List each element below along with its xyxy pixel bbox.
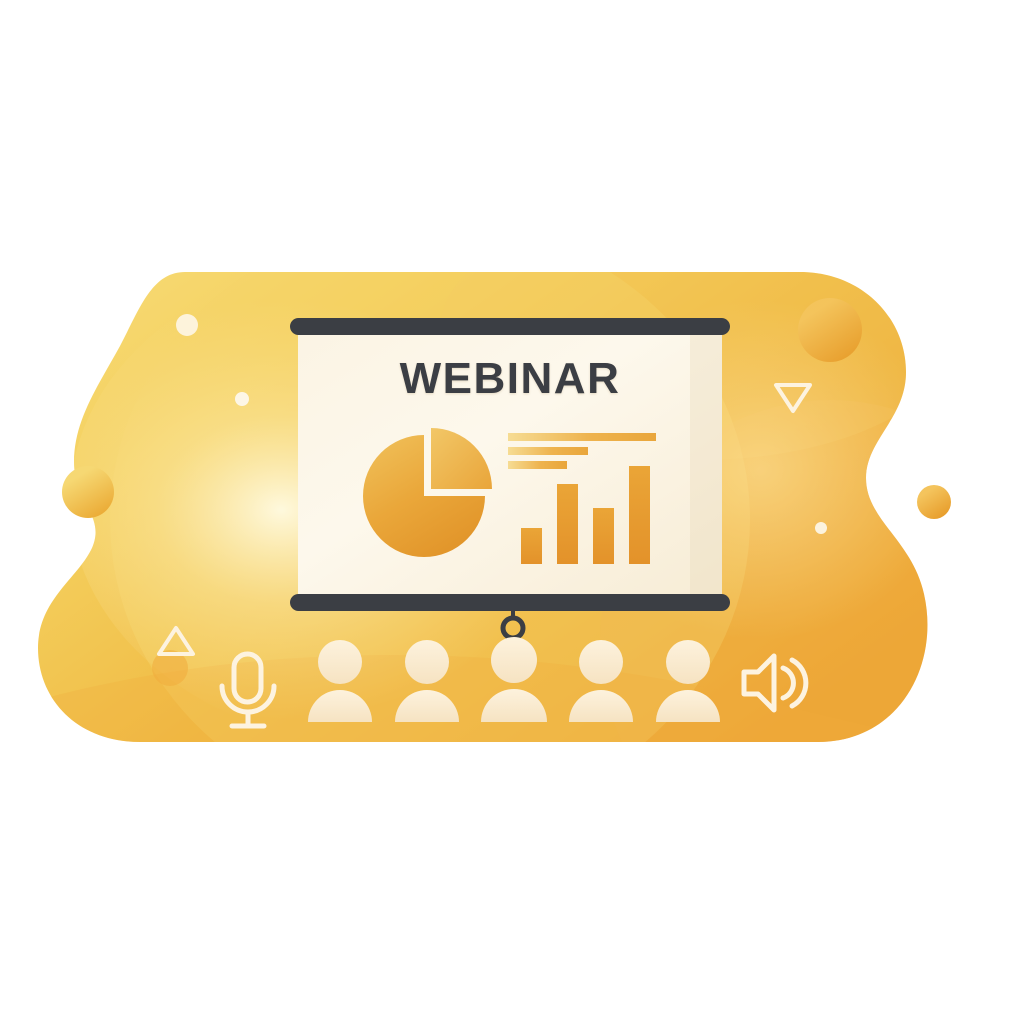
bar-1 <box>521 528 542 564</box>
dot-mid-left <box>235 392 249 406</box>
sphere-left-outer <box>62 466 114 518</box>
text-line-1 <box>508 433 656 441</box>
page-title: WEBINAR <box>290 357 730 401</box>
screen-bottom-bar <box>290 594 730 611</box>
dot-upper-left <box>176 314 198 336</box>
webinar-illustration <box>0 0 1024 1024</box>
sphere-right-outer <box>917 485 951 519</box>
illustration-canvas: WEBINAR <box>0 0 1024 1024</box>
bar-4 <box>629 466 650 564</box>
dot-right <box>815 522 827 534</box>
bar-2 <box>557 484 578 564</box>
text-line-3 <box>508 461 567 469</box>
screen-top-bar <box>290 318 730 335</box>
text-line-2 <box>508 447 588 455</box>
sphere-top-right <box>798 298 862 362</box>
bar-3 <box>593 508 614 564</box>
